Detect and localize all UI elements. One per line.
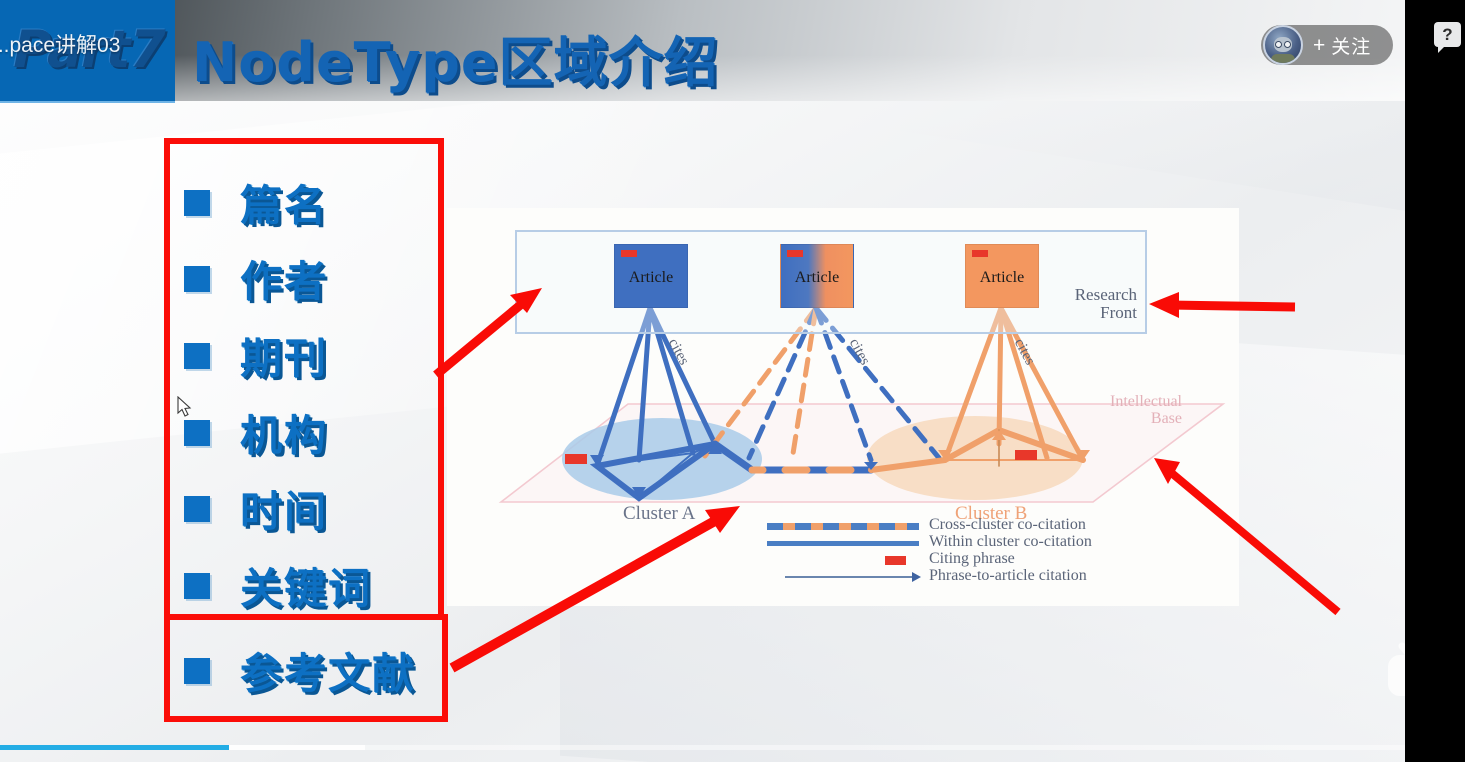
- list-item[interactable]: 作者: [184, 248, 328, 309]
- cluster-a-label: Cluster A: [623, 503, 695, 525]
- legend-label: Within cluster co-citation: [929, 533, 1092, 551]
- video-progress-bar[interactable]: [0, 745, 1405, 750]
- player-right-letterbox: [1405, 0, 1465, 762]
- citing-phrase-icon: [885, 556, 906, 565]
- intellectual-base-label: Intellectual Base: [1072, 394, 1182, 428]
- list-item-label: 篇名: [240, 172, 328, 233]
- phrase-to-article-arrow-icon: [785, 576, 919, 578]
- bullet-square-icon: [184, 190, 210, 216]
- diagram-legend: Cross-cluster co-citation Within cluster…: [757, 518, 1177, 586]
- reference-list-box: 参考文献: [164, 614, 448, 722]
- bullet-square-icon: [184, 658, 210, 684]
- video-frame[interactable]: Part7 NodeType区域介绍 篇名 作者 期刊 机构: [0, 0, 1405, 762]
- bullet-square-icon: [184, 266, 210, 292]
- list-item-label: 作者: [240, 248, 328, 309]
- research-front-label: Research Front: [1037, 286, 1137, 322]
- list-item-label: 时间: [240, 478, 328, 539]
- page-title: NodeType区域介绍: [192, 18, 718, 97]
- bullet-square-icon: [184, 420, 210, 446]
- within-cluster-line-icon: [767, 541, 919, 546]
- mouse-cursor: [177, 396, 192, 418]
- cross-cluster-line-icon: [767, 523, 919, 530]
- bullet-square-icon: [184, 343, 210, 369]
- help-badge[interactable]: ?: [1434, 22, 1461, 47]
- article-node-label: Article: [615, 269, 687, 287]
- bullet-square-icon: [184, 573, 210, 599]
- list-item[interactable]: 篇名: [184, 172, 328, 233]
- citing-phrase-marker-icon: [621, 250, 637, 257]
- article-node-label: Article: [781, 269, 853, 287]
- legend-label: Citing phrase: [929, 550, 1015, 568]
- list-item-label: 期刊: [240, 325, 328, 386]
- bullet-square-icon: [184, 496, 210, 522]
- list-item-label: 关键词: [240, 555, 372, 616]
- intellectual-base-line2: Base: [1072, 411, 1182, 428]
- research-front-line2: Front: [1037, 304, 1137, 322]
- list-item[interactable]: 参考文献: [184, 640, 416, 701]
- avatar-eye: [1275, 41, 1282, 48]
- episode-title-overlay: ...pace讲解03: [0, 29, 120, 59]
- citespace-diagram: Article Article Article cites cites cite…: [447, 208, 1239, 606]
- tv-play-icon[interactable]: [1378, 632, 1405, 706]
- avatar-eye: [1284, 41, 1291, 48]
- progress-played: [0, 745, 229, 750]
- nodetype-list-box: 篇名 作者 期刊 机构 时间 关键词: [164, 138, 444, 620]
- article-node: Article: [780, 244, 854, 308]
- list-item-label: 参考文献: [240, 640, 416, 701]
- plus-icon: +: [1313, 35, 1325, 56]
- legend-label: Phrase-to-article citation: [929, 567, 1087, 585]
- slide-title-bar: Part7 NodeType区域介绍: [0, 0, 1405, 101]
- intellectual-base-line1: Intellectual: [1072, 394, 1182, 411]
- avatar-body: [1271, 54, 1295, 65]
- follow-button-label: 关注: [1331, 32, 1371, 59]
- list-item[interactable]: 时间: [184, 478, 328, 539]
- list-item-label: 机构: [240, 402, 328, 463]
- list-item[interactable]: 期刊: [184, 325, 328, 386]
- legend-label: Cross-cluster co-citation: [929, 516, 1086, 534]
- citing-phrase-marker-icon: [787, 250, 803, 257]
- citing-phrase-marker-icon: [972, 250, 988, 257]
- list-item[interactable]: 关键词: [184, 555, 372, 616]
- legend-row: Phrase-to-article citation: [757, 569, 1177, 586]
- article-node: Article: [965, 244, 1039, 308]
- list-item[interactable]: 机构: [184, 402, 328, 463]
- video-player: Part7 NodeType区域介绍 篇名 作者 期刊 机构: [0, 0, 1465, 762]
- article-node: Article: [614, 244, 688, 308]
- follow-button[interactable]: + 关注: [1261, 25, 1393, 65]
- avatar[interactable]: [1263, 25, 1303, 65]
- research-front-line1: Research: [1037, 286, 1137, 304]
- article-node-label: Article: [966, 269, 1038, 287]
